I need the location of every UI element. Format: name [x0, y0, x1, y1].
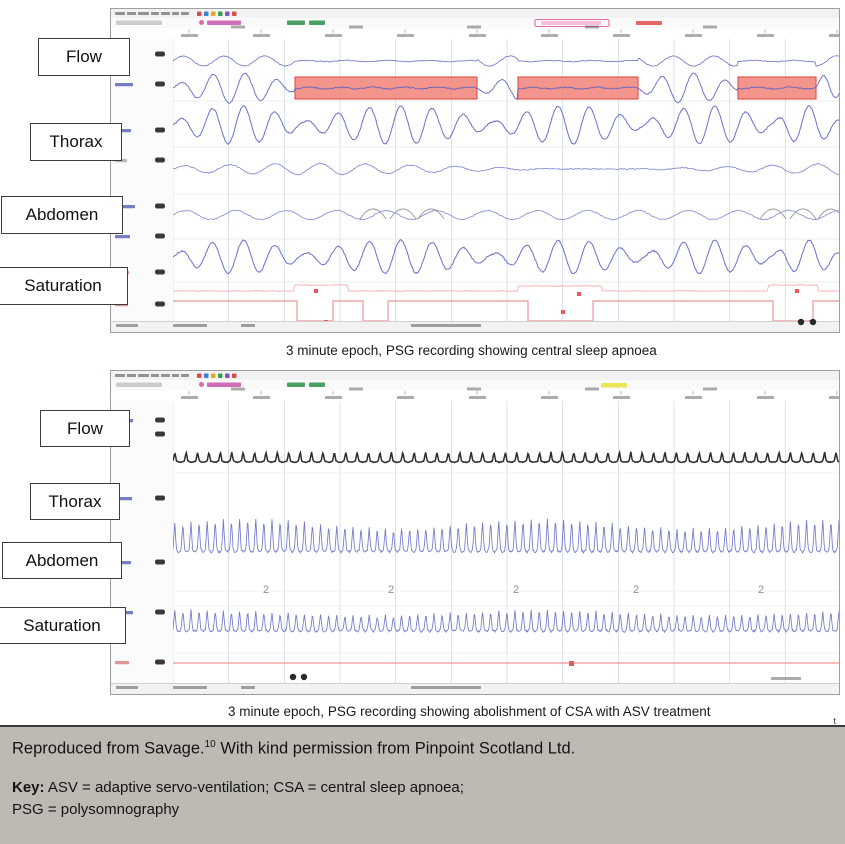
psg-status-bar-asv [111, 683, 839, 694]
psg-plot-csa[interactable] [173, 39, 839, 322]
psg-traces-asv: 22222 [173, 401, 839, 684]
svg-text:2: 2 [758, 584, 764, 596]
attribution-reference: 10 [205, 739, 216, 750]
psg-status-bar-csa [111, 321, 839, 332]
callout-saturation-csa: Saturation [0, 267, 128, 305]
psg-traces-csa [173, 39, 839, 322]
callout-label: Saturation [23, 616, 101, 636]
key-line-1: Key: ASV = adaptive servo-ventilation; C… [12, 777, 464, 799]
key-definitions-1: ASV = adaptive servo-ventilation; CSA = … [45, 779, 464, 796]
svg-text:2: 2 [263, 584, 269, 596]
callout-saturation-asv: Saturation [0, 607, 126, 644]
callout-thorax-csa: Thorax [30, 123, 122, 161]
callout-label: Abdomen [26, 205, 99, 225]
callout-label: Thorax [49, 492, 102, 512]
attribution-permission: With kind permission from Pinpoint Scotl… [216, 740, 576, 758]
attribution-source: Reproduced from Savage. [12, 740, 205, 758]
callout-flow-csa: Flow [38, 38, 130, 76]
callout-label: Saturation [24, 276, 102, 296]
callout-thorax-asv: Thorax [30, 483, 120, 520]
caption-asv: 3 minute epoch, PSG recording showing ab… [228, 704, 711, 719]
callout-flow-asv: Flow [40, 410, 130, 447]
key-line-2: PSG = polysomnography [12, 799, 464, 821]
callout-label: Flow [67, 419, 103, 439]
callout-label: Abdomen [26, 551, 99, 571]
svg-text:2: 2 [388, 584, 394, 596]
psg-panel-asv[interactable]: 22222 [110, 370, 840, 695]
svg-text:2: 2 [633, 584, 639, 596]
key-label: Key: [12, 779, 45, 796]
caption-csa: 3 minute epoch, PSG recording showing ce… [286, 343, 657, 358]
attribution-line: Reproduced from Savage.10 With kind perm… [12, 739, 575, 759]
callout-label: Flow [66, 47, 102, 67]
svg-text:2: 2 [513, 584, 519, 596]
callout-label: Thorax [50, 132, 103, 152]
callout-abdomen-asv: Abdomen [2, 542, 122, 579]
callout-abdomen-csa: Abdomen [1, 196, 123, 234]
key-block: Key: ASV = adaptive servo-ventilation; C… [12, 777, 464, 821]
psg-plot-asv[interactable]: 22222 [173, 401, 839, 684]
psg-figure: Flow Thorax Abdomen Saturation 3 minute … [0, 0, 845, 725]
psg-panel-csa[interactable] [110, 8, 840, 333]
figure-footer: Reproduced from Savage.10 With kind perm… [0, 725, 845, 844]
